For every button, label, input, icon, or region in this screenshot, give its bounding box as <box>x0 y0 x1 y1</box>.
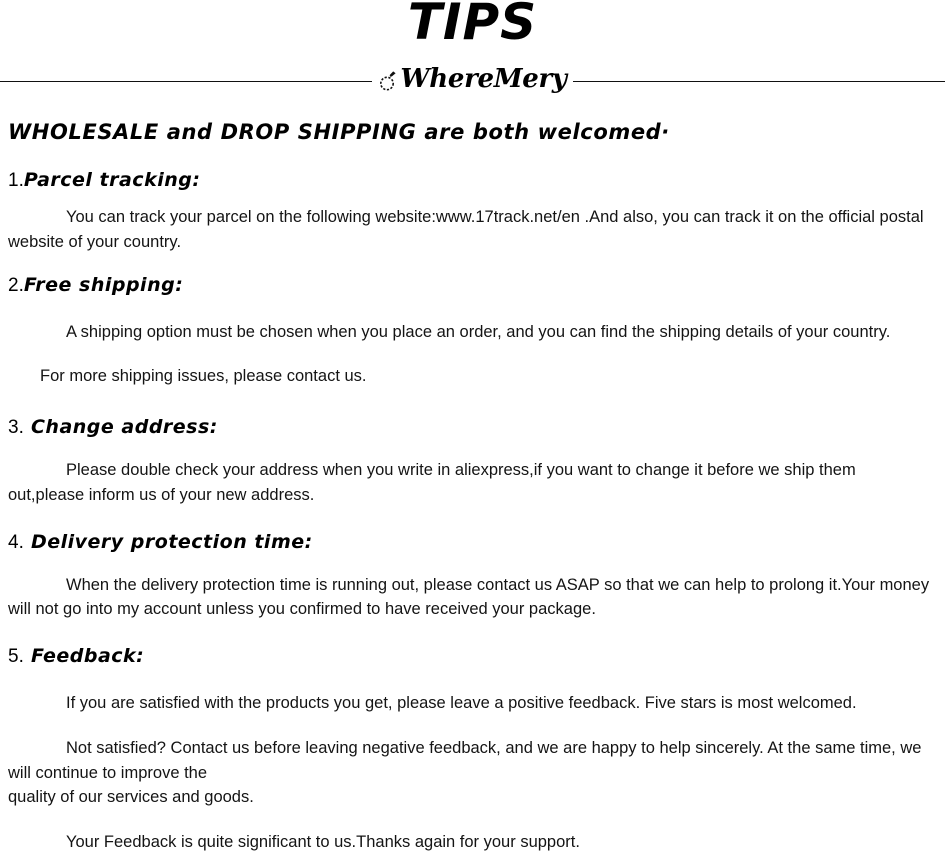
section-paragraph: Not satisfied? Contact us before leaving… <box>0 736 945 786</box>
section-paragraph: When the delivery protection time is run… <box>0 573 945 623</box>
section-paragraph: Your Feedback is quite significant to us… <box>0 830 945 855</box>
section-delivery-protection-time: 4. Delivery protection time: When the de… <box>0 528 945 623</box>
section-feedback: 5. Feedback: If you are satisfied with t… <box>0 642 945 855</box>
section-paragraph: For more shipping issues, please contact… <box>0 364 945 389</box>
section-number: 2. <box>8 275 24 296</box>
section-change-address: 3. Change address: Please double check y… <box>0 413 945 508</box>
divider-line-right <box>573 81 945 82</box>
section-parcel-tracking: 1.Parcel tracking: You can track your pa… <box>0 166 945 255</box>
section-free-shipping: 2.Free shipping: A shipping option must … <box>0 271 945 390</box>
section-number: 3. <box>8 417 24 438</box>
section-number: 1. <box>8 170 24 191</box>
section-number: 4. <box>8 532 24 553</box>
brand-name: WhereMery <box>400 66 566 92</box>
brand-block: WhereMery <box>376 66 568 92</box>
section-paragraph: A shipping option must be chosen when yo… <box>0 320 945 345</box>
section-title: Feedback: <box>24 645 144 667</box>
section-heading: 5. Feedback: <box>0 642 945 671</box>
section-heading: 2.Free shipping: <box>0 271 945 300</box>
section-paragraph: quality of our services and goods. <box>0 785 945 810</box>
section-paragraph: If you are satisfied with the products y… <box>0 691 945 716</box>
section-title: Change address: <box>24 416 218 438</box>
section-title: Parcel tracking: <box>24 169 201 191</box>
section-number: 5. <box>8 646 24 667</box>
section-heading: 4. Delivery protection time: <box>0 528 945 557</box>
tips-content: 1.Parcel tracking: You can track your pa… <box>0 166 945 855</box>
section-heading: 3. Change address: <box>0 413 945 442</box>
section-heading: 1.Parcel tracking: <box>0 166 945 195</box>
section-paragraph: You can track your parcel on the followi… <box>0 205 945 255</box>
brand-header-row: WhereMery <box>0 62 945 96</box>
section-paragraph: Please double check your address when yo… <box>0 458 945 508</box>
wholesale-notice: WHOLESALE and DROP SHIPPING are both wel… <box>8 120 670 144</box>
section-title: Delivery protection time: <box>24 531 313 553</box>
divider-line-left <box>0 81 372 82</box>
page-title: TIPS <box>0 0 945 49</box>
section-title: Free shipping: <box>24 274 183 296</box>
diamond-ring-icon <box>378 68 398 92</box>
